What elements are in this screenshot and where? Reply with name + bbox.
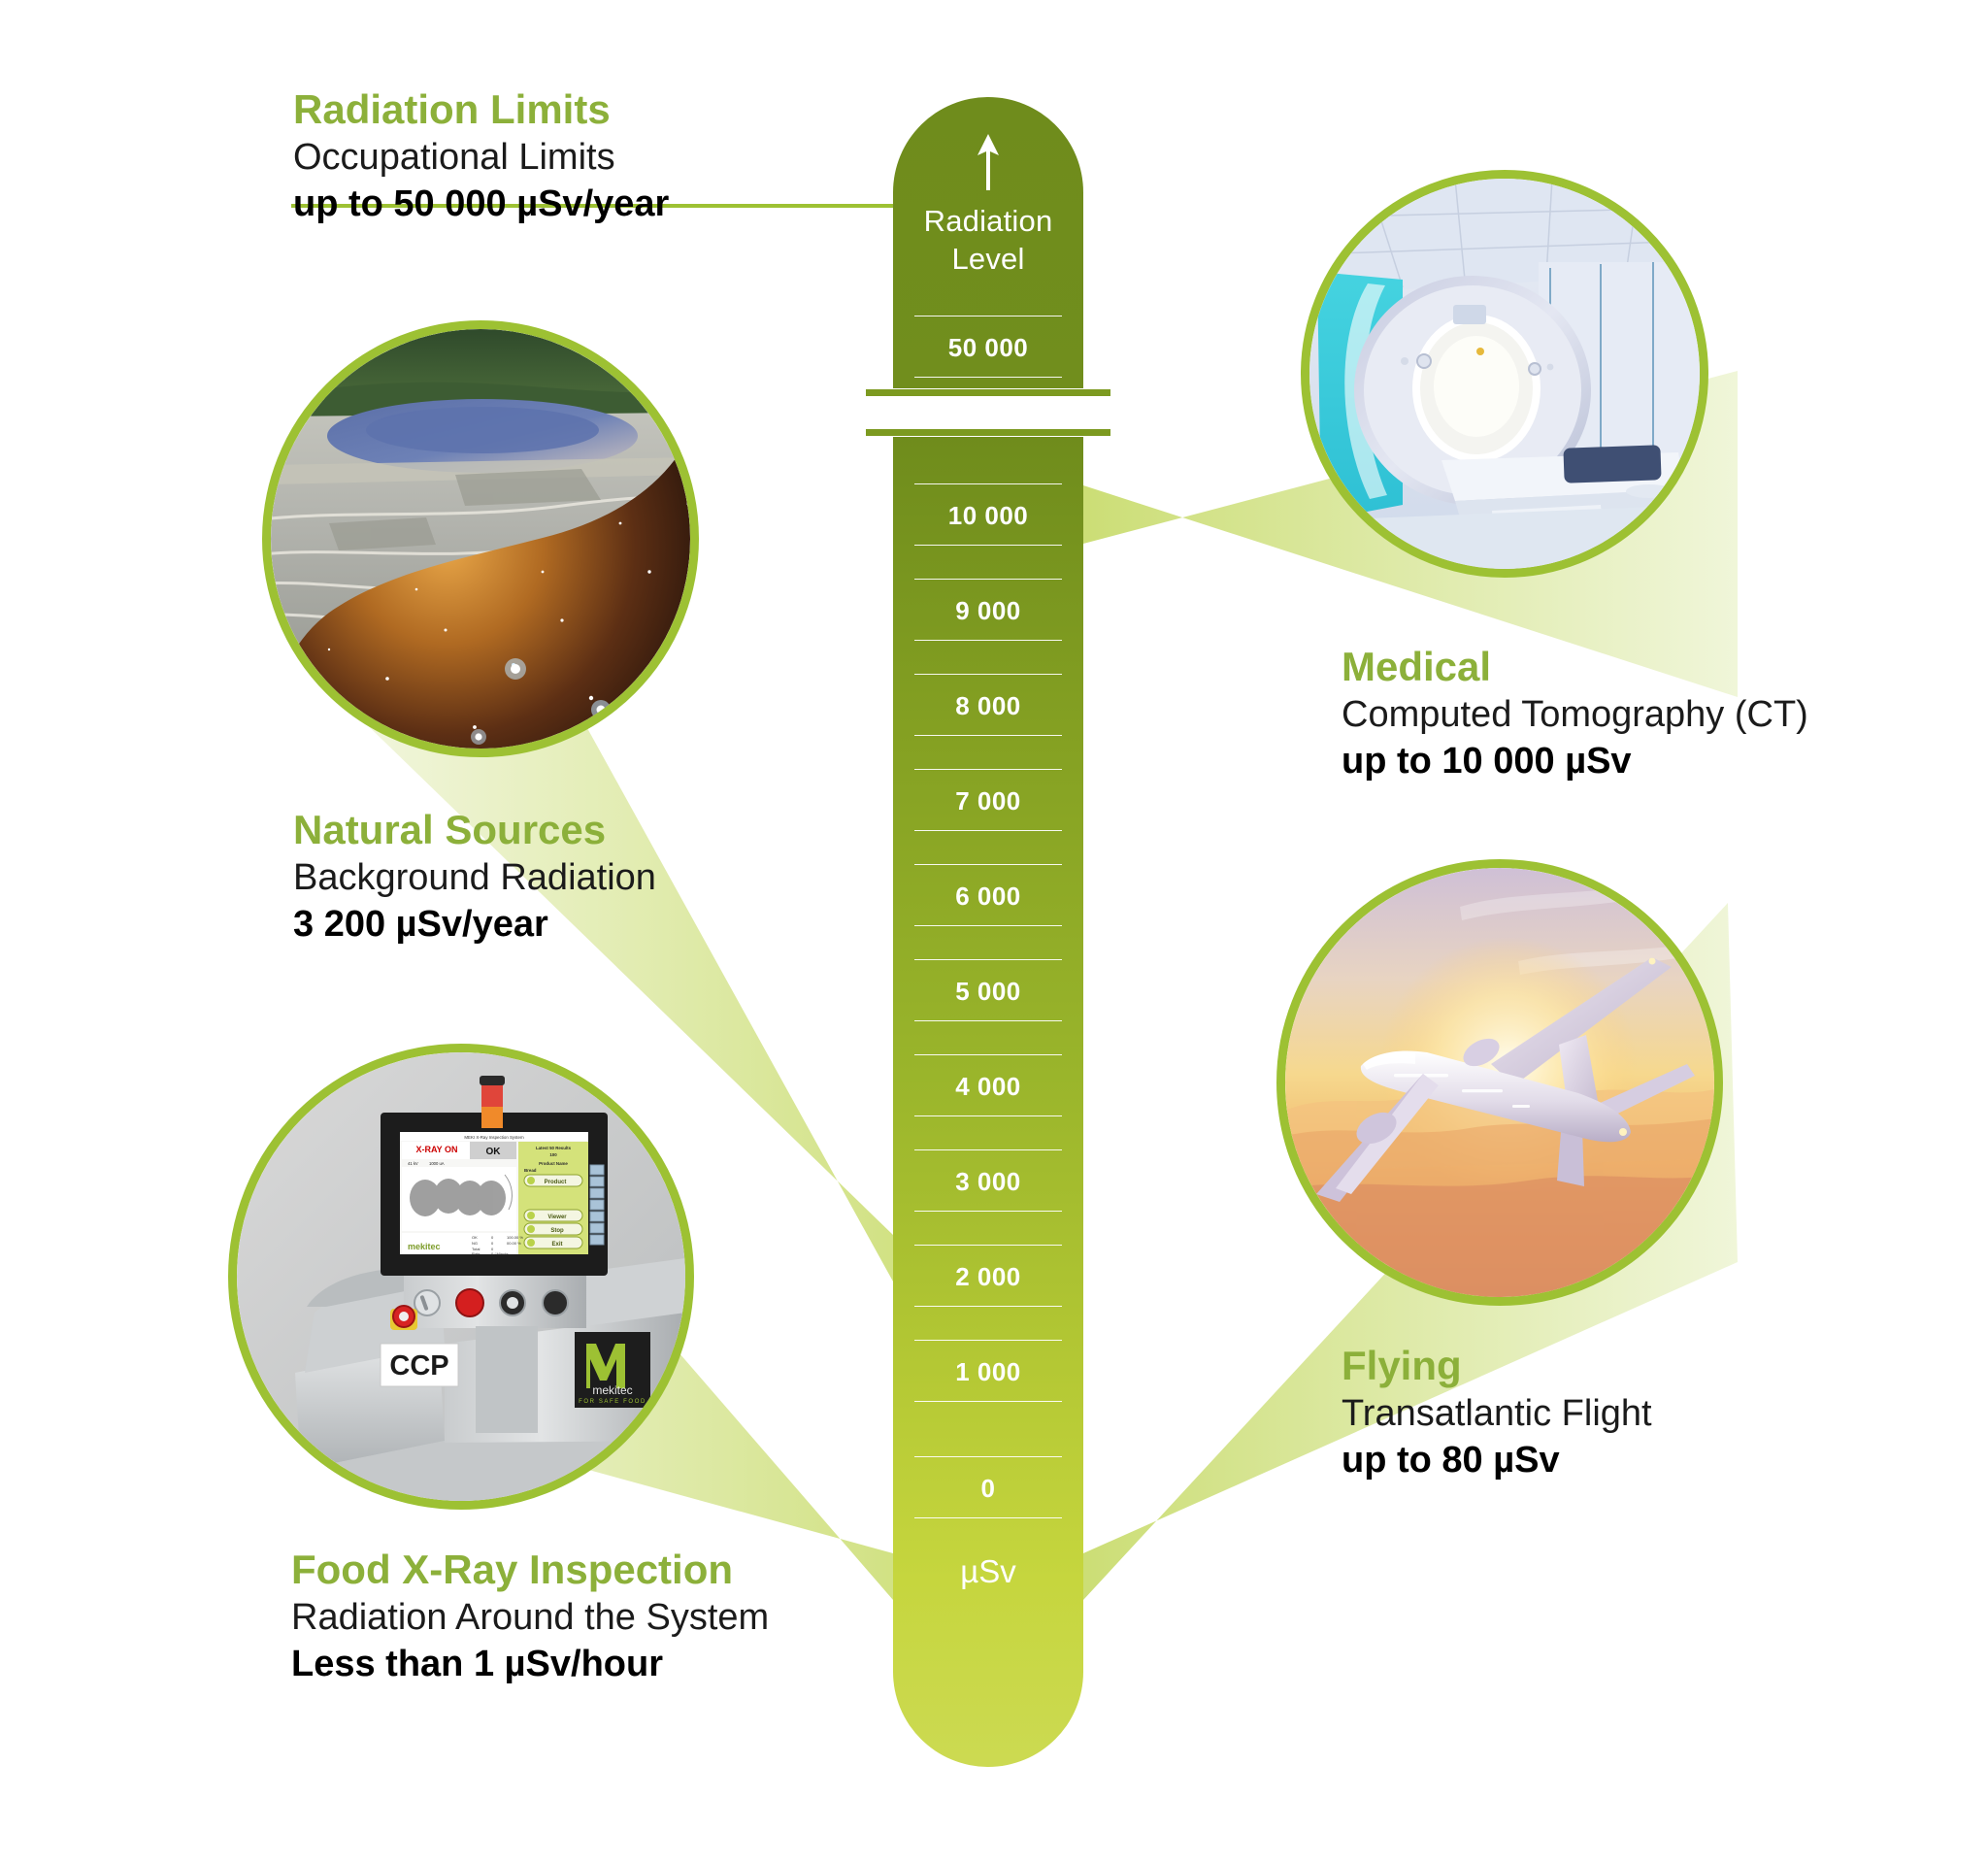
tick-label-4000: 4 000 [893, 1072, 1083, 1102]
callout-natural-sources: Natural Sources Background Radiation 3 2… [293, 806, 656, 948]
screen-status-ok: OK [486, 1147, 502, 1157]
tick-line [914, 1211, 1062, 1212]
screen-btn-exit: Exit [551, 1242, 562, 1248]
callout-value: up to 80 µSv [1342, 1437, 1652, 1483]
tick-line [914, 316, 1062, 316]
medical-photo-circle [1301, 170, 1708, 578]
tick-line [914, 1149, 1062, 1150]
screen-header-text: MEKI X-Ray Inspection System [464, 1135, 524, 1140]
svg-text:100.00 %: 100.00 % [507, 1235, 523, 1240]
tick-label-50000: 50 000 [893, 333, 1083, 363]
tick-line [914, 925, 1062, 926]
screen-panel-product: Bread [524, 1168, 537, 1173]
tick-line [914, 579, 1062, 580]
svg-text:NG: NG [472, 1241, 478, 1246]
tick-line [914, 1115, 1062, 1116]
tick-line [914, 830, 1062, 831]
screen-btn-product: Product [545, 1180, 567, 1185]
tick-line [914, 377, 1062, 378]
svg-text:00.00 %: 00.00 % [507, 1241, 521, 1246]
tick-line [914, 1020, 1062, 1021]
airplane-sunset-photo [1285, 868, 1714, 1297]
tick-label-10000: 10 000 [893, 501, 1083, 531]
up-arrow-icon [974, 132, 1003, 192]
screen-panel-sub: Product Name [539, 1161, 568, 1166]
tick-label-7000: 7 000 [893, 786, 1083, 816]
callout-subtitle: Radiation Around the System [291, 1594, 769, 1641]
gauge-title-line2: Level [893, 240, 1083, 278]
stack-light-amber [481, 1107, 503, 1128]
infographic-canvas: Radiation Level 50 000 10 000 9 000 8 00… [0, 0, 1988, 1864]
tick-label-9000: 9 000 [893, 596, 1083, 626]
screen-ua: 1000 uA [429, 1161, 445, 1166]
tick-line [914, 735, 1062, 736]
svg-text:0 / Minute: 0 / Minute [491, 1251, 509, 1256]
callout-subtitle: Background Radiation [293, 854, 656, 901]
screen-kv: 41 kV [408, 1161, 418, 1166]
svg-text:OK: OK [472, 1235, 478, 1240]
svg-text:Rate: Rate [472, 1251, 480, 1256]
mri-scanner-photo [1309, 179, 1700, 569]
tick-line [914, 1306, 1062, 1307]
callout-value: 3 200 µSv/year [293, 901, 656, 948]
callout-title: Medical [1342, 643, 1808, 691]
tick-line [914, 1456, 1062, 1457]
callout-title: Radiation Limits [293, 85, 669, 134]
tick-line [914, 1340, 1062, 1341]
tick-line [914, 545, 1062, 546]
mekitec-logo-tagline: FOR SAFE FOOD [579, 1399, 646, 1405]
tick-line [914, 640, 1062, 641]
gauge-title-line1: Radiation [893, 202, 1083, 240]
screen-brand-mekitec: mekitec [408, 1242, 441, 1251]
mine-and-starfield-photo [271, 329, 690, 749]
tick-line [914, 769, 1062, 770]
gauge-unit-label: µSv [893, 1553, 1083, 1590]
callout-subtitle: Occupational Limits [293, 134, 669, 181]
screen-status-xray-on: X-RAY ON [415, 1145, 457, 1154]
gauge-title: Radiation Level [893, 202, 1083, 278]
tick-label-0: 0 [893, 1474, 1083, 1504]
tick-label-5000: 5 000 [893, 977, 1083, 1007]
screen-btn-stop: Stop [550, 1228, 564, 1234]
callout-value: up to 50 000 µSv/year [293, 181, 669, 227]
tick-label-2000: 2 000 [893, 1262, 1083, 1292]
callout-subtitle: Transatlantic Flight [1342, 1390, 1652, 1437]
tick-line [914, 959, 1062, 960]
callout-title: Natural Sources [293, 806, 656, 854]
tick-label-3000: 3 000 [893, 1167, 1083, 1197]
callout-flying: Flying Transatlantic Flight up to 80 µSv [1342, 1342, 1652, 1483]
tick-label-1000: 1 000 [893, 1357, 1083, 1387]
tick-line [914, 1517, 1062, 1518]
natural-sources-photo-circle [262, 320, 699, 757]
tick-line [914, 483, 1062, 484]
scale-break-bar-lower [866, 429, 1110, 436]
tick-label-8000: 8 000 [893, 691, 1083, 721]
tick-line [914, 1245, 1062, 1246]
mekitec-logo-wordmark: mekitec [592, 1383, 632, 1397]
callout-title: Flying [1342, 1342, 1652, 1390]
tick-line [914, 674, 1062, 675]
tick-line [914, 864, 1062, 865]
callout-subtitle: Computed Tomography (CT) [1342, 691, 1808, 738]
tick-line [914, 1054, 1062, 1055]
callout-radiation-limits: Radiation Limits Occupational Limits up … [293, 85, 669, 227]
ccp-label: CCP [389, 1350, 448, 1381]
screen-panel-title: Latest 50 Results [536, 1146, 572, 1150]
callout-value: up to 10 000 µSv [1342, 738, 1808, 784]
callout-title: Food X-Ray Inspection [291, 1546, 769, 1594]
callout-medical: Medical Computed Tomography (CT) up to 1… [1342, 643, 1808, 784]
scale-break-bar-upper [866, 389, 1110, 396]
flying-photo-circle [1276, 859, 1723, 1306]
tick-line [914, 1401, 1062, 1402]
radiation-level-gauge: Radiation Level 50 000 10 000 9 000 8 00… [893, 97, 1083, 1767]
svg-text:100: 100 [549, 1152, 557, 1157]
callout-value: Less than 1 µSv/hour [291, 1641, 769, 1687]
stop-button-red [456, 1289, 483, 1316]
food-xray-photo-circle: MEKI X-Ray Inspection System X-RAY ON OK… [228, 1044, 694, 1510]
callout-food-xray: Food X-Ray Inspection Radiation Around t… [291, 1546, 769, 1687]
mekitec-xray-machine-photo: MEKI X-Ray Inspection System X-RAY ON OK… [237, 1052, 685, 1501]
screen-btn-viewer: Viewer [547, 1215, 567, 1220]
tick-label-6000: 6 000 [893, 882, 1083, 912]
